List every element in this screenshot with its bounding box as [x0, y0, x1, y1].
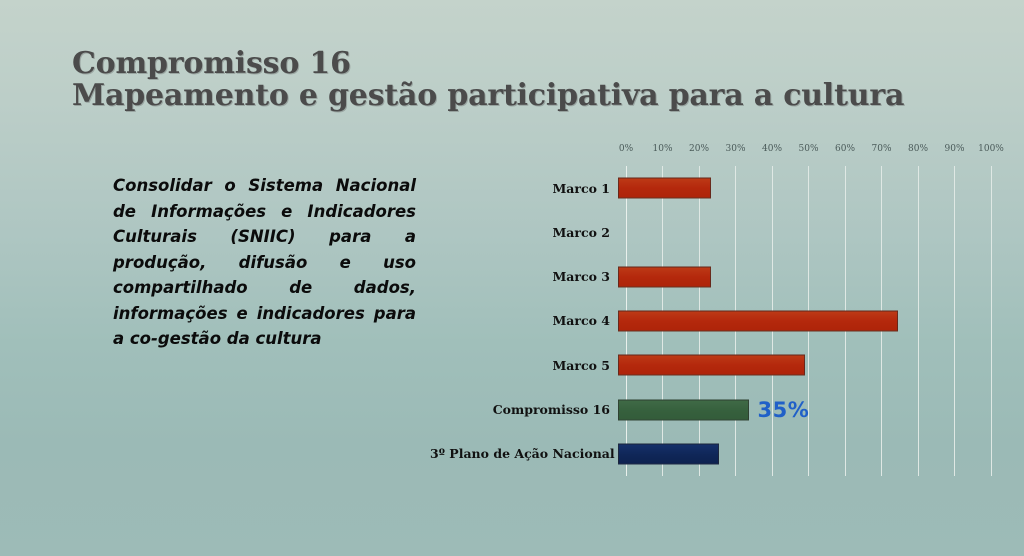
progress-bar-chart: 0%10%20%30%40%50%60%70%80%90%100% Marco … — [430, 144, 1005, 484]
commitment-description: Consolidar o Sistema Nacional de Informa… — [113, 173, 416, 352]
x-axis-tick-label: 60% — [835, 144, 855, 154]
chart-bar[interactable] — [618, 310, 898, 331]
x-axis-tick-label: 0% — [619, 144, 633, 154]
chart-rows: Marco 1Marco 2Marco 3Marco 4Marco 5Compr… — [430, 166, 991, 476]
chart-row: Marco 1 — [430, 166, 991, 210]
chart-bar-track — [618, 255, 991, 299]
chart-bar-track: 35% — [618, 387, 991, 431]
page-title-line-1: Compromisso 16 — [72, 48, 972, 79]
page-title-line-2: Mapeamento e gestão participativa para a… — [72, 79, 972, 113]
chart-row: Compromisso 1635% — [430, 387, 991, 431]
chart-row: Marco 4 — [430, 299, 991, 343]
x-axis-tick-label: 80% — [908, 144, 928, 154]
chart-bar[interactable] — [618, 399, 749, 420]
x-axis-tick-label: 30% — [725, 144, 745, 154]
chart-plot-area: Marco 1Marco 2Marco 3Marco 4Marco 5Compr… — [626, 166, 991, 476]
x-axis-tick-label: 70% — [871, 144, 891, 154]
chart-category-label: Marco 3 — [430, 269, 618, 284]
chart-category-label: Marco 2 — [430, 225, 618, 240]
x-axis-tick-label: 20% — [689, 144, 709, 154]
chart-category-label: Marco 1 — [430, 181, 618, 196]
chart-category-label: Compromisso 16 — [430, 402, 618, 417]
chart-bar-track — [618, 299, 991, 343]
x-axis-tick-label: 100% — [978, 144, 1004, 154]
chart-bar[interactable] — [618, 443, 719, 464]
chart-category-label: Marco 4 — [430, 313, 618, 328]
chart-row: Marco 3 — [430, 255, 991, 299]
chart-bar-track — [618, 343, 991, 387]
chart-x-axis: 0%10%20%30%40%50%60%70%80%90%100% — [626, 144, 991, 158]
chart-row: 3º Plano de Ação Nacional — [430, 432, 991, 476]
chart-row: Marco 2 — [430, 210, 991, 254]
x-axis-tick-label: 40% — [762, 144, 782, 154]
slide-canvas: Compromisso 16 Mapeamento e gestão parti… — [0, 0, 1024, 556]
chart-row: Marco 5 — [430, 343, 991, 387]
x-axis-tick-label: 10% — [652, 144, 672, 154]
chart-bar-track — [618, 432, 991, 476]
chart-data-label: 35% — [758, 398, 810, 422]
title-block: Compromisso 16 Mapeamento e gestão parti… — [72, 48, 972, 113]
chart-bar[interactable] — [618, 266, 711, 287]
chart-category-label: Marco 5 — [430, 358, 618, 373]
chart-bar-track — [618, 166, 991, 210]
chart-bar[interactable] — [618, 178, 711, 199]
chart-category-label: 3º Plano de Ação Nacional — [430, 446, 618, 461]
x-axis-tick-label: 90% — [944, 144, 964, 154]
chart-bar-track — [618, 210, 991, 254]
chart-bar[interactable] — [618, 355, 805, 376]
x-axis-tick-label: 50% — [798, 144, 818, 154]
